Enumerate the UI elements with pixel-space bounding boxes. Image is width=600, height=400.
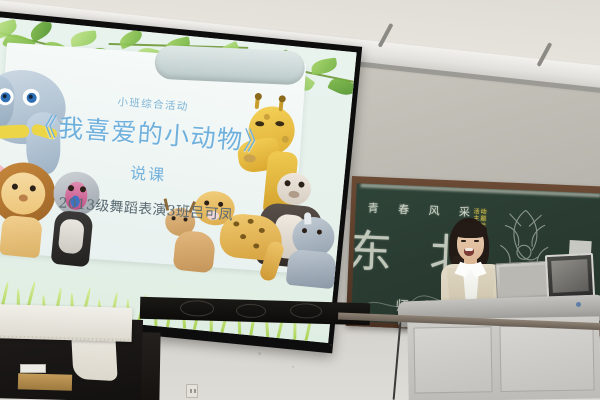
laptop-icon[interactable] [495, 261, 551, 302]
presenter-hair-front [454, 222, 487, 238]
podium-indicator-light [576, 302, 581, 307]
podium-panel-right[interactable] [499, 324, 594, 392]
laptop-screen [499, 265, 547, 297]
presenter-eye-left [461, 240, 466, 242]
podium-panel-left[interactable] [413, 326, 492, 393]
wall-mark [330, 344, 332, 346]
slide-text-block: 小班综合活动 《我喜爱的小动物》 说课 2013级舞蹈表演3班吕可凤 [0, 42, 306, 272]
slide-presenter-line: 2013级舞蹈表演3班吕可凤 [0, 188, 296, 229]
monitor-icon[interactable] [545, 253, 595, 299]
wall-mark [292, 366, 294, 368]
piano-keyboard-edge [18, 373, 72, 390]
presenter-teeth [465, 248, 473, 251]
classroom-photo: Bonlink [0, 0, 600, 400]
piano-lace-cover [0, 304, 132, 342]
screen-surface: 小班综合活动 《我喜爱的小动物》 说课 2013级舞蹈表演3班吕可凤 [0, 16, 357, 343]
power-outlet-icon [186, 384, 198, 398]
wall-mark [258, 352, 261, 355]
monitor-screen [551, 259, 589, 293]
piano-label-tag [20, 364, 46, 373]
presenter-eye-right [474, 240, 479, 242]
